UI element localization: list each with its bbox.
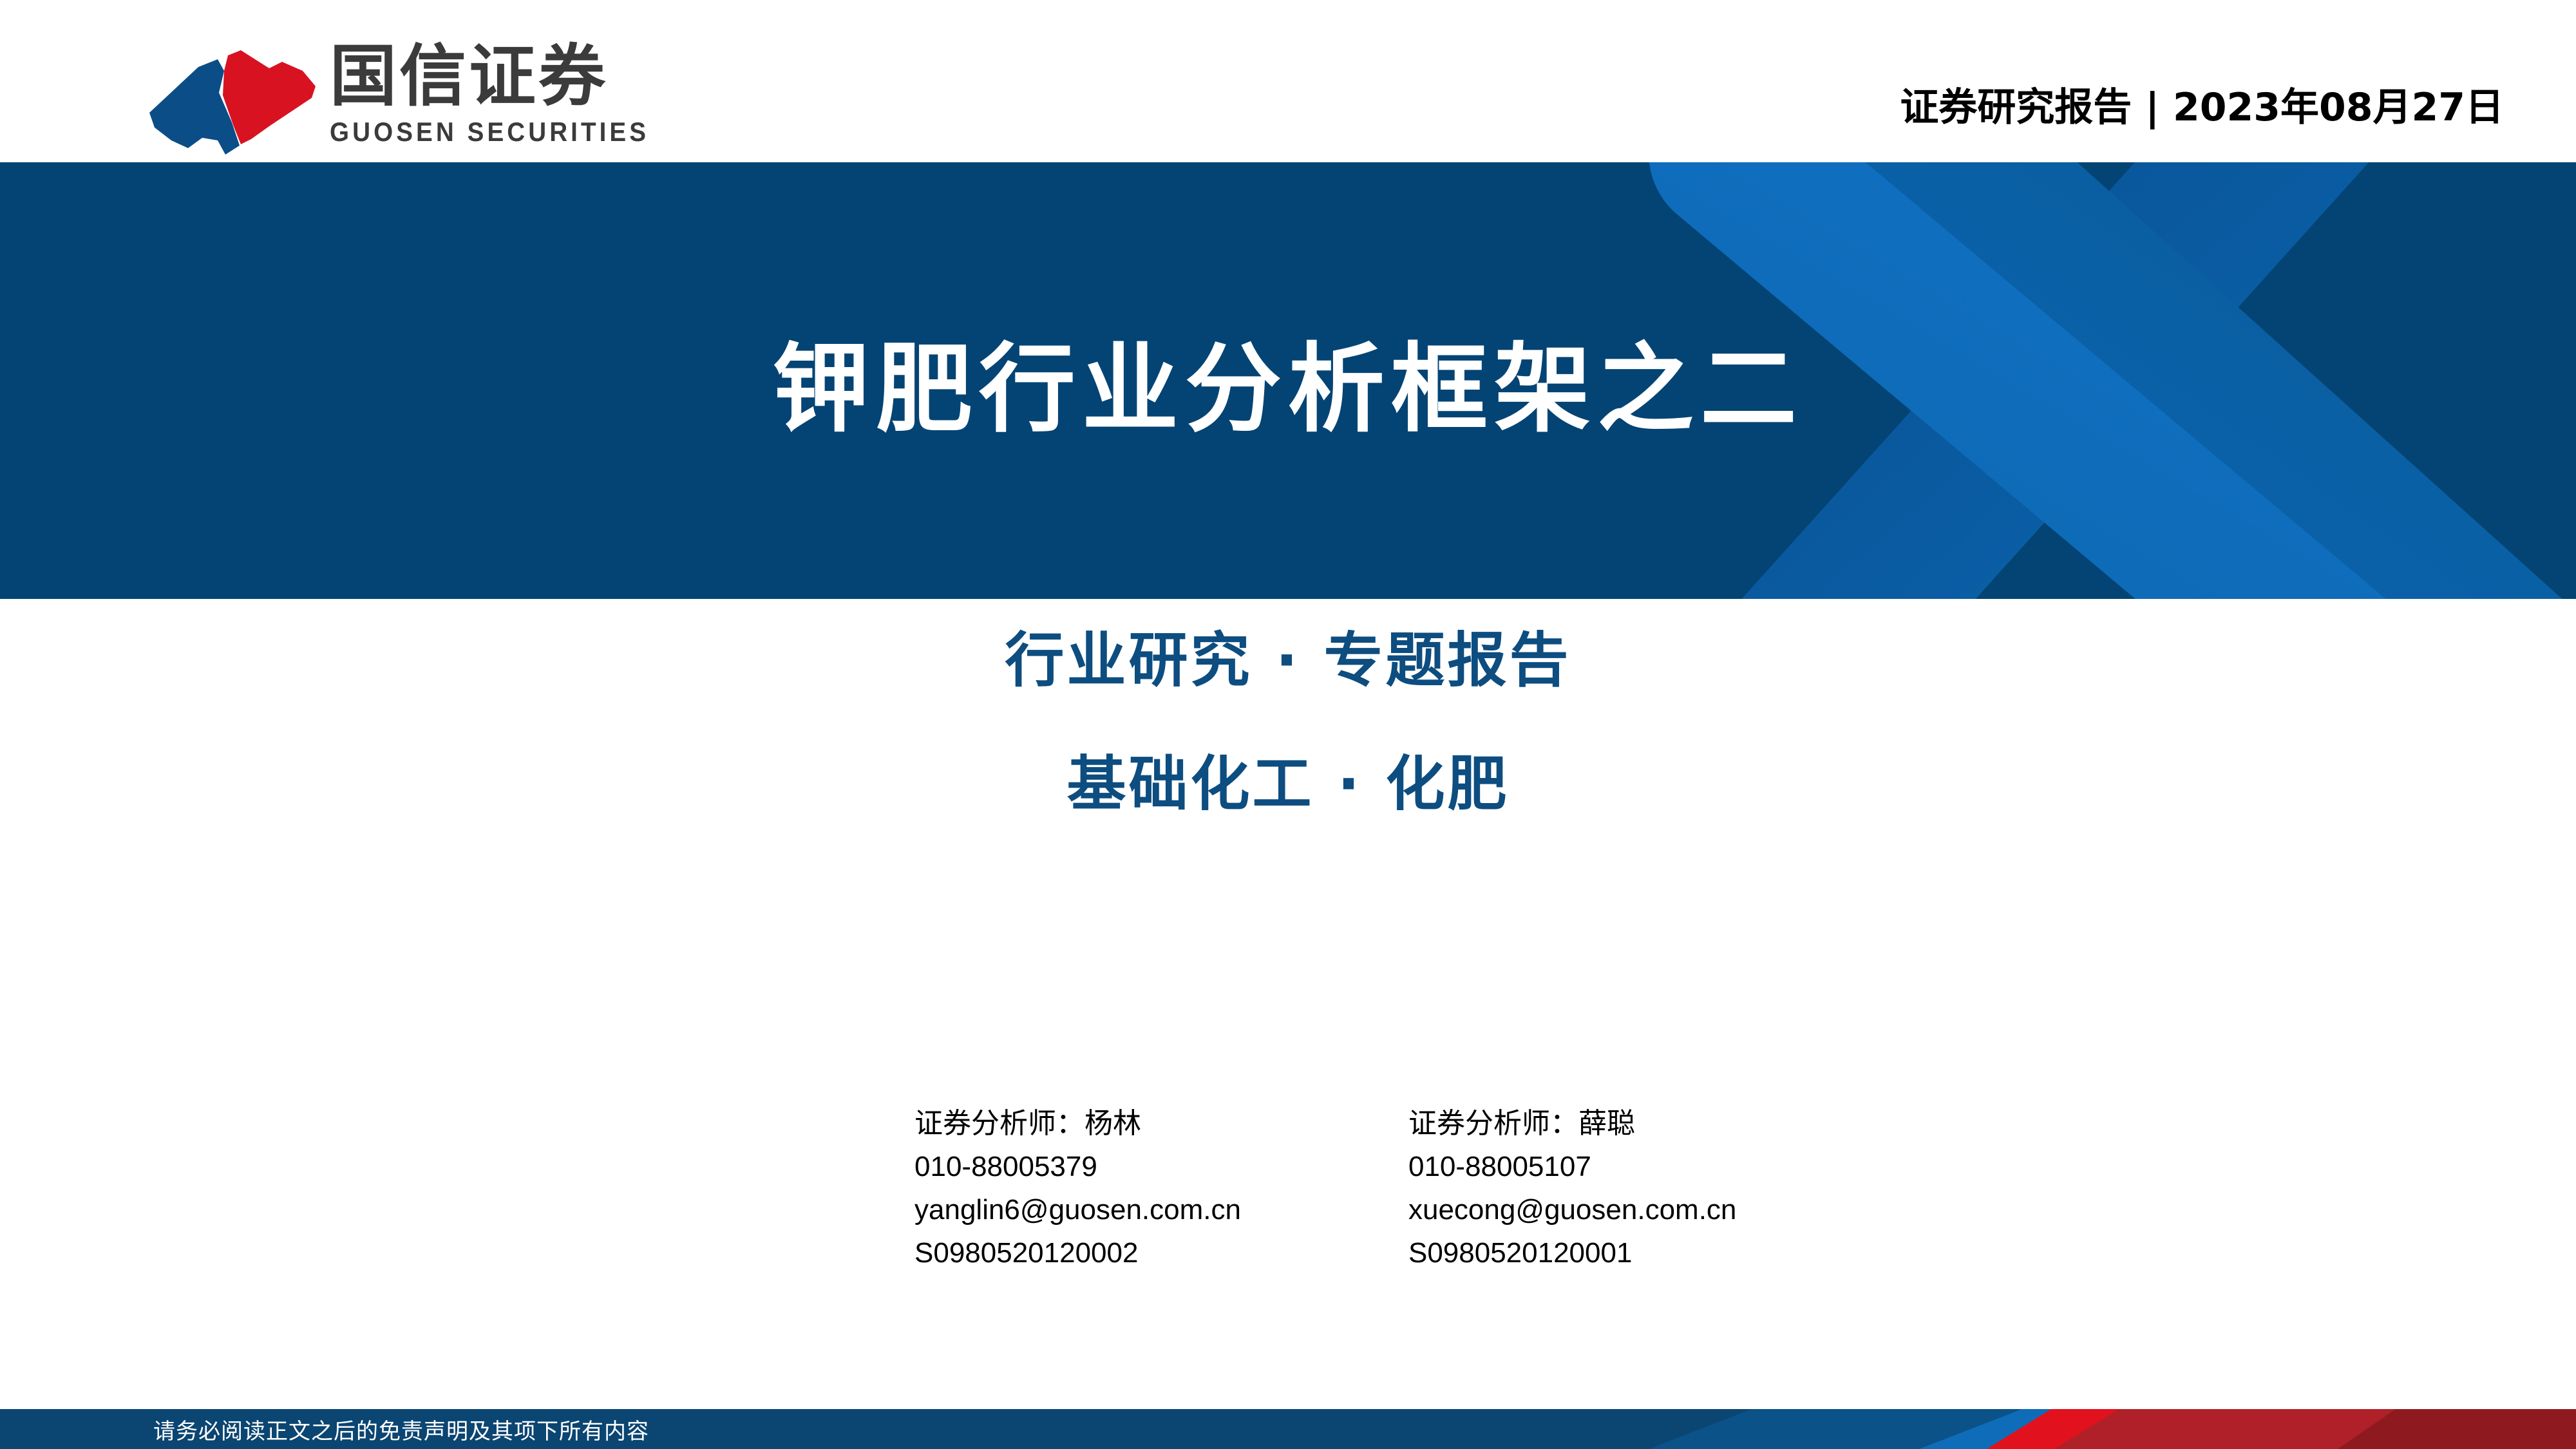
subtitle-research-type: 行业研究 · 专题报告 (0, 631, 2576, 690)
top-header-bar: 国信证券 GUOSEN SECURITIES 证券研究报告 | 2023年08月… (0, 0, 2576, 162)
brand-name-cn: 国信证券 (330, 43, 677, 109)
brand-name-en: GUOSEN SECURITIES (330, 118, 649, 146)
footer-disclaimer: 请务必阅读正文之后的免责声明及其项下所有内容 (153, 1409, 649, 1449)
analyst-email[interactable]: xuecong@guosen.com.cn (1408, 1189, 1736, 1232)
brand-wordmark: 国信证券 GUOSEN SECURITIES (330, 31, 677, 146)
logo-red-shape (223, 50, 316, 144)
footer-bar: 请务必阅读正文之后的免责声明及其项下所有内容 (0, 1409, 2576, 1449)
subtitle-sector: 基础化工 · 化肥 (0, 755, 2576, 814)
brand-logo: 国信证券 GUOSEN SECURITIES (143, 31, 677, 160)
analyst-card: 证券分析师：薛聪 010-88005107 xuecong@guosen.com… (1408, 1103, 1736, 1275)
analyst-name: 证券分析师：杨林 (914, 1103, 1241, 1146)
analyst-license-number: S0980520120002 (914, 1232, 1241, 1275)
analyst-phone: 010-88005107 (1408, 1146, 1736, 1189)
analyst-email[interactable]: yanglin6@guosen.com.cn (914, 1189, 1241, 1232)
page-title: 钾肥行业分析框架之二 (0, 162, 2576, 599)
analyst-license-number: S0980520120001 (1408, 1232, 1736, 1275)
report-type-and-date: 证券研究报告 | 2023年08月27日 (1900, 76, 2504, 132)
analyst-contact-block: 证券分析师：杨林 010-88005379 yanglin6@guosen.co… (914, 1103, 1736, 1275)
hero-banner: 钾肥行业分析框架之二 (0, 162, 2576, 599)
guosen-logo-mark-icon (143, 31, 318, 155)
subtitle-block: 行业研究 · 专题报告 基础化工 · 化肥 (0, 631, 2576, 814)
analyst-card: 证券分析师：杨林 010-88005379 yanglin6@guosen.co… (914, 1103, 1241, 1275)
analyst-name: 证券分析师：薛聪 (1408, 1103, 1736, 1146)
analyst-phone: 010-88005379 (914, 1146, 1241, 1189)
